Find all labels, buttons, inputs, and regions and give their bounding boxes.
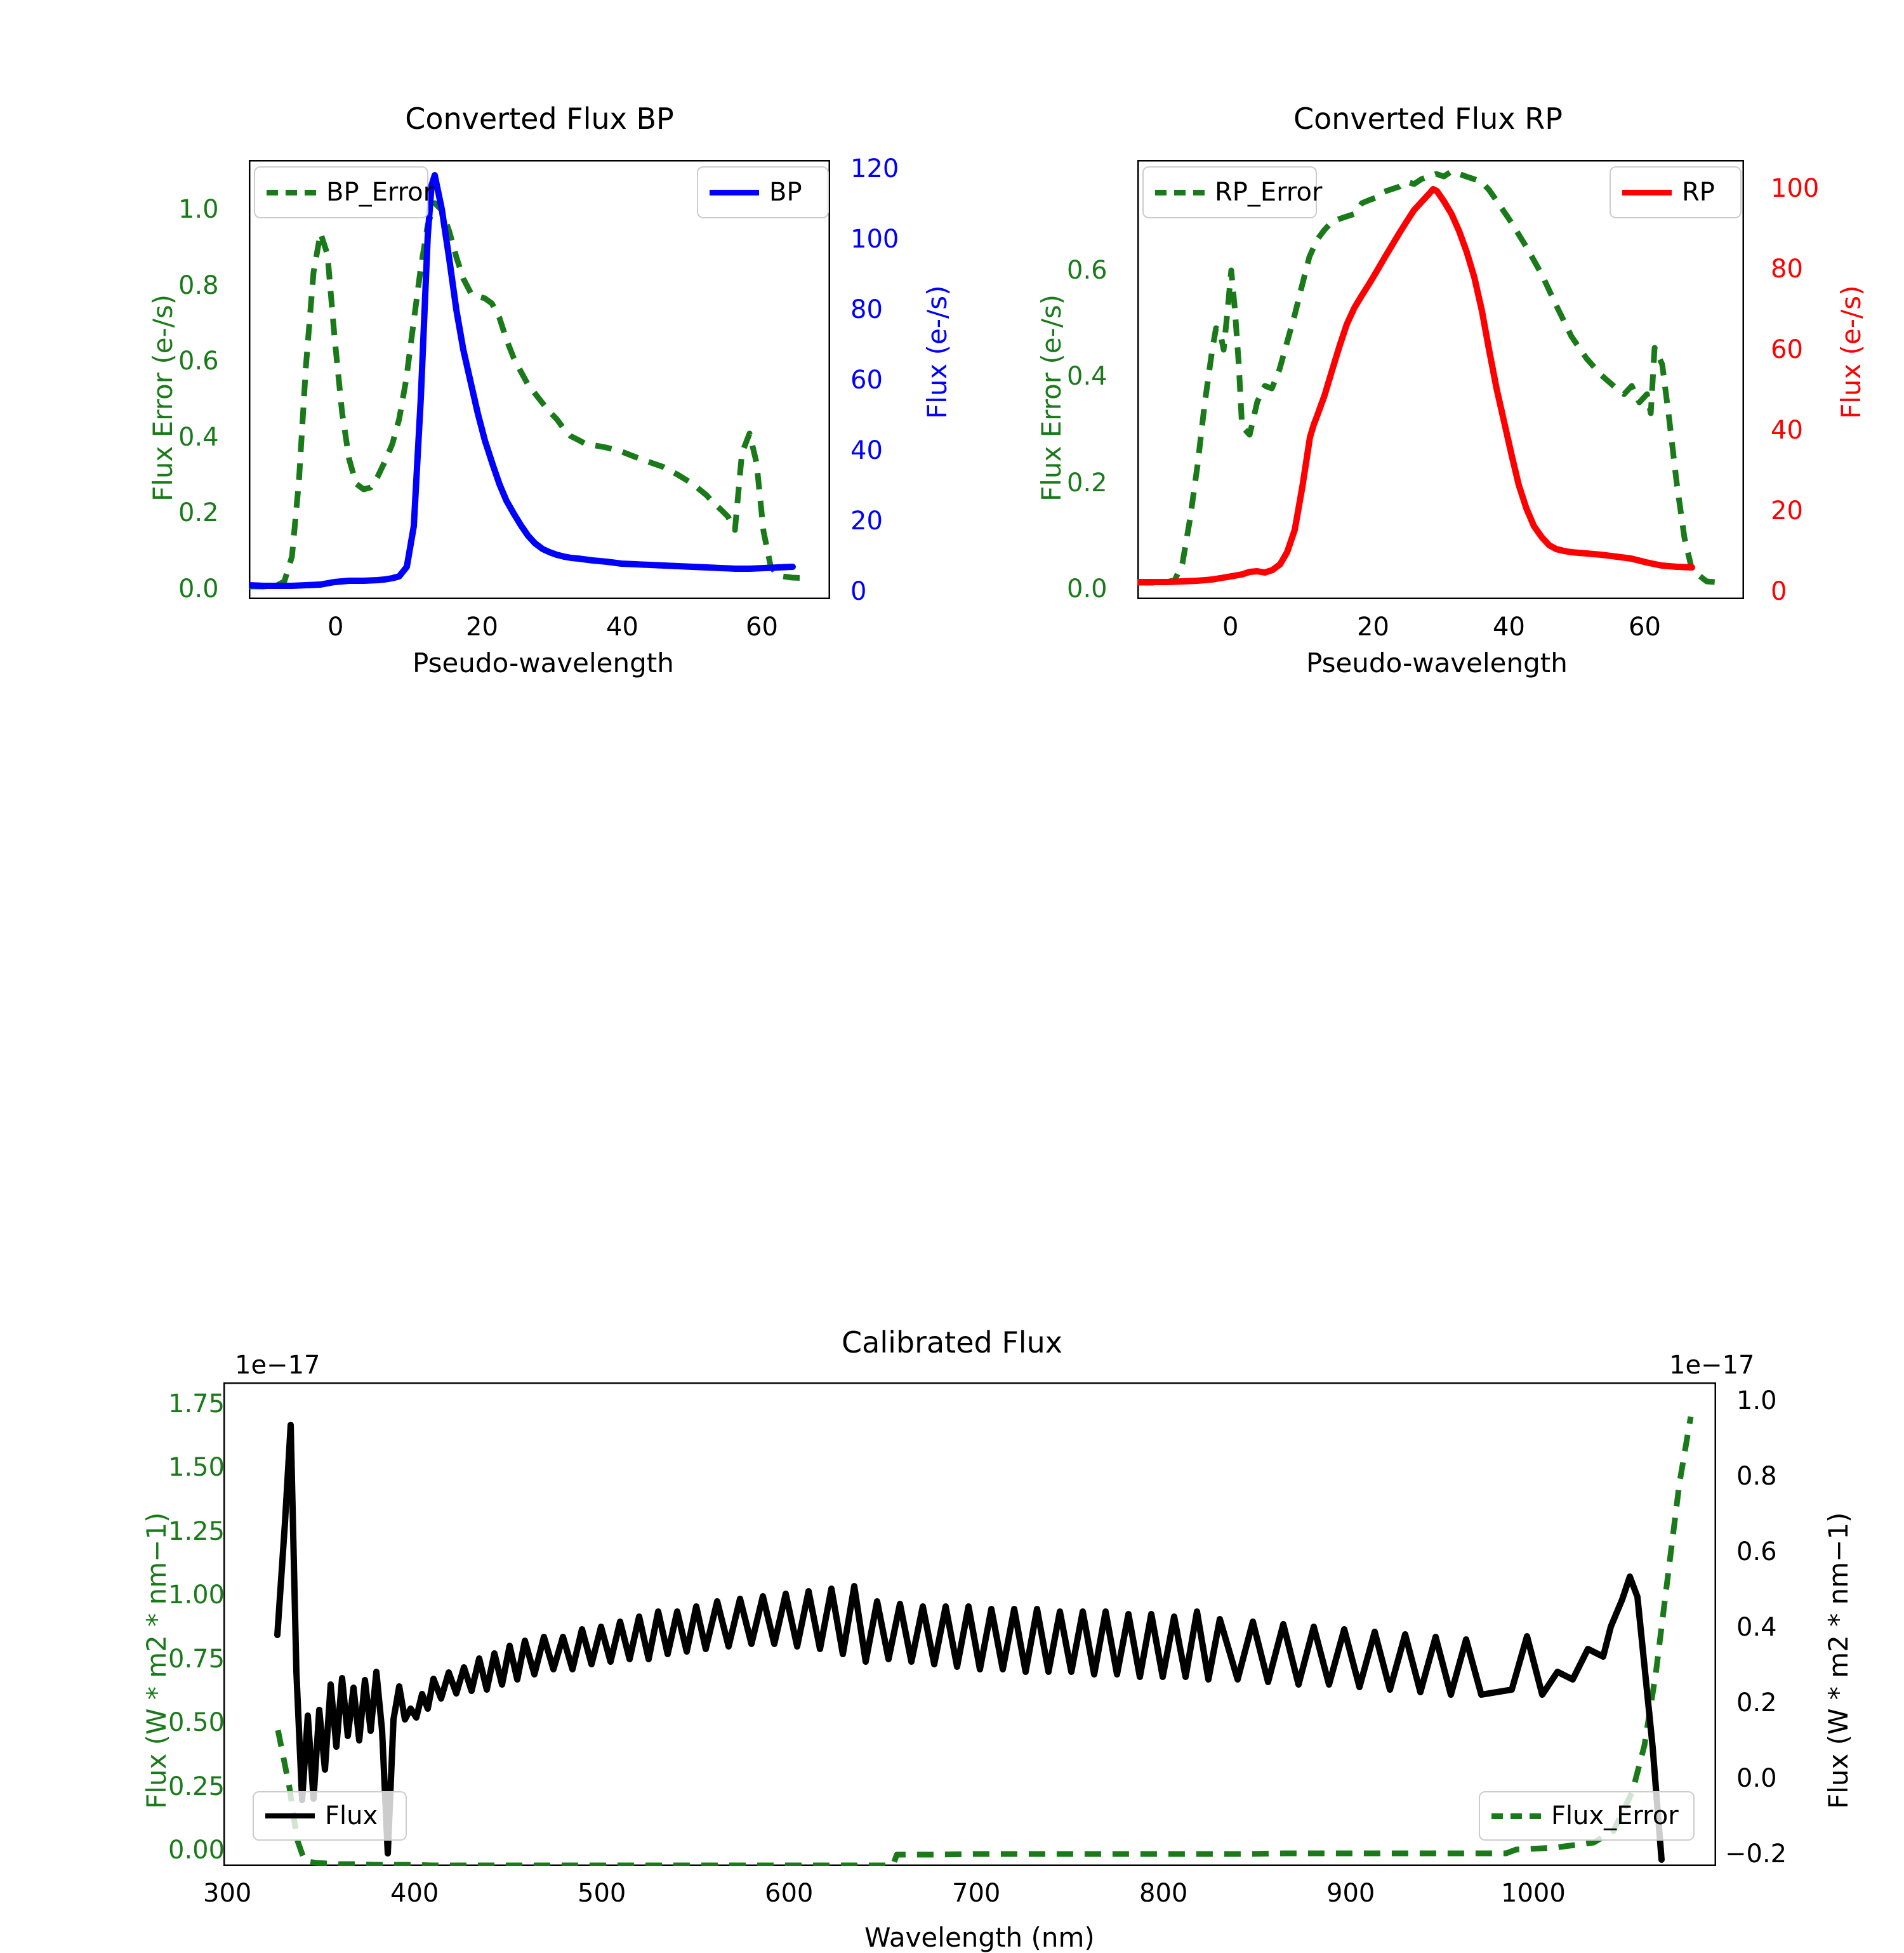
calibrated-right-tick-4: 0.6 xyxy=(1736,1537,1777,1566)
bp-right-tick-5: 100 xyxy=(850,225,899,254)
calibrated-x-tick-7: 1000 xyxy=(1501,1879,1566,1908)
panel-converted-flux-bp: Converted Flux BP Flux Error (e-/s) Flux… xyxy=(0,0,952,673)
bp-left-axis-label: Flux Error (e-/s) xyxy=(147,295,178,501)
figure-canvas: Converted Flux BP Flux Error (e-/s) Flux… xyxy=(0,0,1904,1333)
calibrated-left-axis-label: Flux (W * m2 * nm−1) xyxy=(141,1513,172,1809)
bp-right-tick-1: 20 xyxy=(850,506,883,536)
calibrated-x-tick-0: 300 xyxy=(203,1879,251,1908)
bp-right-axis-label: Flux (e-/s) xyxy=(922,286,953,419)
calibrated-right-tick-6: 1.0 xyxy=(1736,1386,1777,1415)
bp-flux-legend-swatch xyxy=(710,190,759,195)
bp-x-tick-0: 0 xyxy=(327,612,343,642)
calibrated-left-tick-4: 1.00 xyxy=(168,1580,225,1610)
calibrated-right-offset-label: 1e−17 xyxy=(1669,1351,1754,1380)
bp-right-tick-4: 80 xyxy=(850,295,883,324)
bp-left-tick-0: 0.0 xyxy=(178,574,219,604)
bp-left-tick-4: 0.8 xyxy=(178,271,219,300)
rp-error-legend-label: RP_Error xyxy=(1215,178,1322,207)
calibrated-legend-flux[interactable]: Flux xyxy=(253,1791,407,1841)
calibrated-left-offset-label: 1e−17 xyxy=(235,1351,320,1380)
calibrated-left-tick-3: 0.75 xyxy=(168,1645,225,1674)
rp-right-tick-2: 40 xyxy=(1771,416,1803,445)
bp-left-tick-1: 0.2 xyxy=(178,498,219,527)
rp-x-tick-0: 0 xyxy=(1222,612,1238,642)
rp-left-tick-3: 0.6 xyxy=(1067,256,1107,285)
bp-legend-flux[interactable]: BP xyxy=(697,166,829,218)
calibrated-flux-legend-swatch xyxy=(265,1813,315,1818)
calibrated-x-tick-2: 500 xyxy=(578,1879,626,1908)
bp-left-tick-5: 1.0 xyxy=(178,195,219,224)
calibrated-flux-legend-label: Flux xyxy=(325,1801,378,1831)
rp-right-tick-0: 0 xyxy=(1771,577,1787,606)
bp-x-tick-2: 40 xyxy=(606,612,638,642)
bp-right-tick-2: 40 xyxy=(850,436,883,465)
calibrated-panel-title: Calibrated Flux xyxy=(635,1325,1269,1360)
rp-left-tick-1: 0.2 xyxy=(1067,468,1107,498)
bp-legend-error[interactable]: BP_Error xyxy=(254,166,428,218)
rp-right-tick-5: 100 xyxy=(1771,174,1819,203)
panel-converted-flux-rp: Converted Flux RP Flux Error (e-/s) Flux… xyxy=(952,0,1904,673)
rp-left-tick-0: 0.0 xyxy=(1067,574,1107,604)
calibrated-right-tick-0: −0.2 xyxy=(1725,1839,1787,1869)
rp-error-legend-swatch xyxy=(1155,190,1205,195)
rp-left-axis-label: Flux Error (e-/s) xyxy=(1036,295,1067,501)
calibrated-flux-error-legend-swatch xyxy=(1491,1813,1541,1819)
calibrated-x-tick-6: 900 xyxy=(1326,1879,1375,1908)
calibrated-x-tick-1: 400 xyxy=(390,1879,439,1908)
rp-legend-error[interactable]: RP_Error xyxy=(1142,166,1317,218)
rp-right-tick-3: 60 xyxy=(1771,335,1803,364)
bp-error-legend-swatch xyxy=(267,190,316,195)
rp-left-tick-2: 0.4 xyxy=(1067,362,1107,391)
bp-flux-legend-label: BP xyxy=(769,178,802,207)
rp-flux-legend-swatch xyxy=(1622,190,1672,195)
calibrated-right-axis-label: Flux (W * m2 * nm−1) xyxy=(1823,1513,1854,1809)
rp-x-tick-3: 60 xyxy=(1629,612,1661,642)
bp-error-legend-label: BP_Error xyxy=(326,178,433,207)
calibrated-flux-error-legend-label: Flux_Error xyxy=(1551,1801,1679,1831)
rp-x-tick-2: 40 xyxy=(1493,612,1525,642)
rp-x-tick-1: 20 xyxy=(1357,612,1389,642)
panel-calibrated-flux: Calibrated Flux 1e−17 1e−17 Flux (W * m2… xyxy=(0,673,1904,1333)
calibrated-x-tick-4: 700 xyxy=(952,1879,1000,1908)
bp-x-tick-3: 60 xyxy=(746,612,778,642)
calibrated-left-tick-6: 1.50 xyxy=(168,1453,225,1482)
rp-right-axis-label: Flux (e-/s) xyxy=(1835,286,1867,419)
rp-flux-legend-label: RP xyxy=(1682,178,1715,207)
calibrated-left-tick-2: 0.50 xyxy=(168,1708,225,1737)
calibrated-right-tick-1: 0.0 xyxy=(1736,1764,1777,1793)
bp-left-tick-2: 0.4 xyxy=(178,423,219,452)
rp-right-tick-4: 80 xyxy=(1771,255,1803,284)
calibrated-x-tick-3: 600 xyxy=(765,1879,813,1908)
bp-x-tick-1: 20 xyxy=(466,612,498,642)
bp-panel-title: Converted Flux BP xyxy=(248,102,831,136)
rp-panel-title: Converted Flux RP xyxy=(1136,102,1720,136)
bp-right-tick-3: 60 xyxy=(850,366,883,395)
calibrated-right-tick-5: 0.8 xyxy=(1736,1462,1777,1491)
calibrated-right-tick-3: 0.4 xyxy=(1736,1613,1777,1642)
rp-right-tick-1: 20 xyxy=(1771,496,1803,526)
calibrated-left-tick-1: 0.25 xyxy=(168,1772,225,1801)
bp-plot-area xyxy=(249,160,830,599)
calibrated-x-axis-label: Wavelength (nm) xyxy=(864,1922,1095,1953)
calibrated-left-tick-5: 1.25 xyxy=(168,1517,225,1546)
rp-plot-area xyxy=(1137,160,1744,599)
bp-right-tick-6: 120 xyxy=(850,154,899,183)
calibrated-legend-flux-error[interactable]: Flux_Error xyxy=(1479,1791,1695,1841)
calibrated-left-tick-0: 0.00 xyxy=(168,1836,225,1865)
calibrated-right-tick-2: 0.2 xyxy=(1736,1688,1777,1718)
bp-left-tick-3: 0.6 xyxy=(178,347,219,376)
calibrated-x-tick-5: 800 xyxy=(1139,1879,1187,1908)
bp-right-tick-0: 0 xyxy=(850,577,866,606)
rp-legend-flux[interactable]: RP xyxy=(1610,166,1742,218)
calibrated-left-tick-7: 1.75 xyxy=(168,1389,225,1419)
